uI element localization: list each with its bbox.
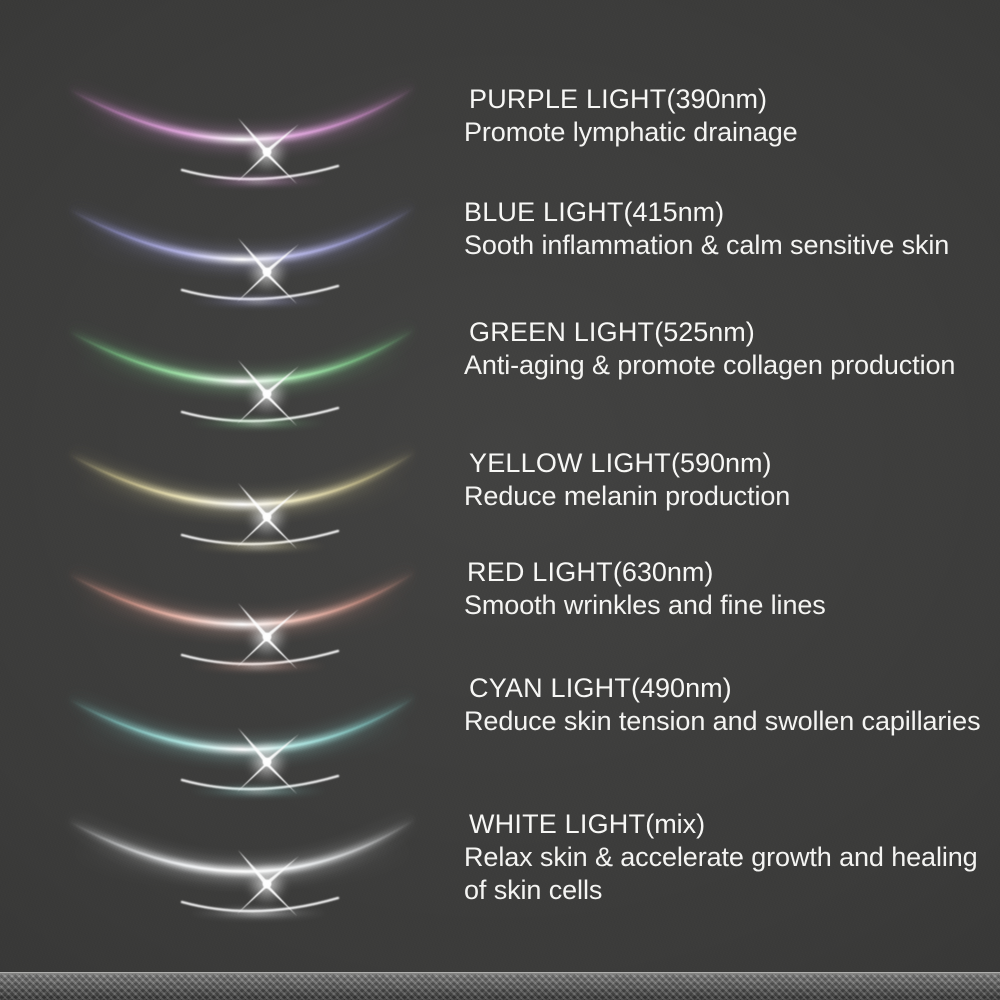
mode-description-yellow: Reduce melanin production	[464, 480, 984, 513]
mode-wavelength-blue: (415nm)	[624, 197, 725, 227]
mode-title-purple: PURPLE LIGHT(390nm)	[464, 83, 984, 116]
base-strip-texture	[0, 974, 1000, 1000]
mode-title-blue: BLUE LIGHT(415nm)	[464, 196, 984, 229]
light-streak-blue	[62, 198, 422, 322]
mode-description-cyan: Reduce skin tension and swollen capillar…	[464, 705, 984, 738]
light-streak-red	[62, 563, 422, 687]
mode-description-purple: Promote lymphatic drainage	[464, 116, 984, 149]
mode-description-red: Smooth wrinkles and fine lines	[464, 589, 984, 622]
light-streak-cyan	[62, 688, 422, 812]
mode-text-white: WHITE LIGHT(mix)Relax skin & accelerate …	[464, 808, 984, 907]
mode-description-blue: Sooth inflammation & calm sensitive skin	[464, 229, 984, 262]
light-streak-white	[62, 810, 422, 934]
mode-text-purple: PURPLE LIGHT(390nm)Promote lymphatic dra…	[464, 83, 984, 149]
light-streak-white	[62, 810, 422, 934]
light-streak-yellow	[62, 443, 422, 567]
mode-wavelength-purple: (390nm)	[666, 84, 767, 114]
light-streak-green	[62, 320, 422, 444]
mode-text-red: RED LIGHT(630nm)Smooth wrinkles and fine…	[464, 556, 984, 622]
mode-text-cyan: CYAN LIGHT(490nm)Reduce skin tension and…	[464, 672, 984, 738]
mode-title-yellow: YELLOW LIGHT(590nm)	[464, 447, 984, 480]
mode-title-green: GREEN LIGHT(525nm)	[464, 316, 984, 349]
mode-wavelength-red: (630nm)	[613, 557, 714, 587]
base-strip	[0, 974, 1000, 1000]
mode-description-green: Anti-aging & promote collagen production	[464, 349, 984, 382]
light-streak-yellow	[62, 443, 422, 567]
light-streak-cyan	[62, 688, 422, 812]
mode-text-blue: BLUE LIGHT(415nm)Sooth inflammation & ca…	[464, 196, 984, 262]
mode-wavelength-cyan: (490nm)	[631, 673, 732, 703]
mode-wavelength-yellow: (590nm)	[671, 448, 772, 478]
mode-title-red: RED LIGHT(630nm)	[464, 556, 984, 589]
mode-text-green: GREEN LIGHT(525nm)Anti-aging & promote c…	[464, 316, 984, 382]
light-streak-purple	[62, 78, 422, 202]
light-streak-purple	[62, 78, 422, 202]
mode-wavelength-white: (mix)	[645, 809, 705, 839]
light-streak-red	[62, 563, 422, 687]
mode-title-cyan: CYAN LIGHT(490nm)	[464, 672, 984, 705]
mode-title-white: WHITE LIGHT(mix)	[464, 808, 984, 841]
light-streak-blue	[62, 198, 422, 322]
mode-wavelength-green: (525nm)	[654, 317, 755, 347]
light-therapy-infographic: PURPLE LIGHT(390nm)Promote lymphatic dra…	[0, 0, 1000, 1000]
light-streak-green	[62, 320, 422, 444]
mode-description-white: Relax skin & accelerate growth and heali…	[464, 841, 984, 907]
mode-text-yellow: YELLOW LIGHT(590nm)Reduce melanin produc…	[464, 447, 984, 513]
